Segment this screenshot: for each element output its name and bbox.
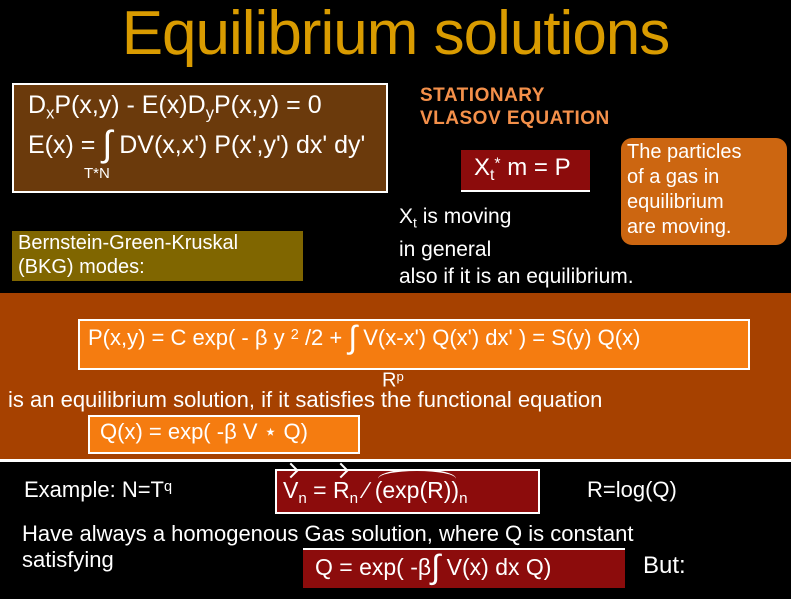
bkg-modes-box: Bernstein-Green-Kruskal (BKG) modes:	[12, 231, 303, 281]
xt-suffix: m = P	[501, 154, 571, 181]
eq1-prefix: D	[28, 91, 46, 119]
vn-equation-box: Vn = Rn ∕ (exp(R))n	[275, 469, 540, 514]
moving-line-3: also if it is an equilibrium.	[399, 263, 634, 290]
integral-symbol: ∫	[348, 319, 357, 355]
xt-moving-text: Xt is moving in general also if it is an…	[399, 203, 634, 290]
example-label: Example: N=Tq	[24, 477, 172, 503]
r-subscript: n	[350, 490, 358, 507]
division-slash: ∕	[358, 477, 375, 503]
functional-equation-box: Q(x) = exp( -β V ⋆ Q)	[88, 415, 360, 454]
heading-line-1: STATIONARY	[420, 84, 610, 107]
eq-part-2: y	[268, 325, 291, 350]
eq-part-1: P(x,y) = C exp( -	[88, 325, 255, 350]
bottom-line-1: Have always a homogenous Gas solution, w…	[22, 521, 633, 547]
q-part-2: V(x) dx Q)	[440, 554, 551, 580]
particles-line-2: of a gas in	[627, 165, 787, 190]
eq-exponent: 2	[291, 327, 299, 343]
bkg-line-2: (BKG) modes:	[18, 255, 303, 279]
stationary-vlasov-heading: STATIONARY VLASOV EQUATION	[420, 84, 610, 130]
eq1-mid: P(x,y) - E(x)D	[54, 91, 205, 119]
v-hat-symbol: V	[283, 477, 298, 504]
beta-symbol: β	[255, 325, 268, 350]
equilibrium-solution-equation-box: P(x,y) = C exp( - β y 2 /2 + ∫ V(x-x') Q…	[78, 319, 750, 370]
integral-symbol: ∫	[431, 549, 440, 586]
beta-symbol: β	[224, 419, 237, 444]
xt-times-m-box: Xt* m = P	[461, 150, 590, 192]
equilibrium-solution-equation: P(x,y) = C exp( - β y 2 /2 + ∫ V(x-x') Q…	[88, 325, 640, 351]
vlasov-equation-line-1: DxP(x,y) - E(x)DyP(x,y) = 0	[28, 91, 322, 123]
exp-r-subscript: n	[459, 490, 467, 507]
r-definition: R=log(Q)	[587, 477, 677, 503]
integral-domain-label: T*N	[84, 165, 110, 182]
example-text: Example: N=T	[24, 477, 164, 502]
r-hat-symbol: R	[333, 477, 350, 504]
q-equation: Q = exp( -β∫ V(x) dx Q)	[315, 554, 551, 581]
eq-part-3: /2 +	[299, 325, 349, 350]
q-part-1: Q = exp( -	[315, 554, 418, 580]
integral-symbol: ∫	[102, 123, 112, 164]
q-equation-box: Q = exp( -β∫ V(x) dx Q)	[303, 548, 625, 588]
vlasov-equation-line-2: E(x) = ∫ DV(x,x') P(x',y') dx' dy'	[28, 131, 365, 160]
equilibrium-statement: is an equilibrium solution, if it satisf…	[8, 387, 602, 413]
particles-line-4: are moving.	[627, 215, 787, 240]
particles-line-1: The particles	[627, 140, 787, 165]
vn-equation: Vn = Rn ∕ (exp(R))n	[283, 477, 468, 507]
xt-equation: Xt* m = P	[474, 154, 571, 185]
slide-canvas: Equilibrium solutions DxP(x,y) - E(x)DyP…	[0, 0, 791, 599]
exp-r-widehat: (exp(R))	[375, 477, 459, 504]
particles-callout-box: The particles of a gas in equilibrium ar…	[621, 138, 787, 245]
convolution-star: ⋆	[264, 419, 278, 444]
functional-equation: Q(x) = exp( -β V ⋆ Q)	[100, 419, 308, 445]
domain-exponent: p	[396, 369, 403, 384]
fe-part-1: Q(x) = exp( -	[100, 419, 224, 444]
bkg-line-1: Bernstein-Green-Kruskal	[18, 231, 303, 255]
eq2-prefix: E(x) =	[28, 131, 102, 159]
but-label: But:	[643, 552, 686, 580]
heading-line-2: VLASOV EQUATION	[420, 107, 610, 130]
xt-prefix: X	[474, 154, 490, 181]
eq-part-4: V(x-x') Q(x') dx' ) = S(y) Q(x)	[357, 325, 640, 350]
v-subscript: n	[298, 490, 306, 507]
fe-part-3: Q)	[277, 419, 308, 444]
equals-sign: =	[307, 477, 333, 503]
particles-line-3: equilibrium	[627, 190, 787, 215]
eq1-suffix: P(x,y) = 0	[214, 91, 322, 119]
moving-line-2: in general	[399, 236, 634, 263]
moving-suffix: is moving	[417, 205, 512, 228]
example-exponent: q	[164, 479, 172, 495]
vlasov-equation-box: DxP(x,y) - E(x)DyP(x,y) = 0 E(x) = ∫ DV(…	[12, 83, 388, 193]
fe-part-2: V	[237, 419, 264, 444]
moving-line-1: Xt is moving	[399, 203, 634, 236]
eq2-suffix: DV(x,x') P(x',y') dx' dy'	[112, 131, 365, 159]
beta-symbol: β	[418, 554, 431, 580]
main-equation-panel: P(x,y) = C exp( - β y 2 /2 + ∫ V(x-x') Q…	[0, 293, 791, 462]
page-title: Equilibrium solutions	[0, 0, 791, 72]
eq1-sub-y: y	[206, 104, 214, 122]
moving-prefix: X	[399, 205, 413, 228]
